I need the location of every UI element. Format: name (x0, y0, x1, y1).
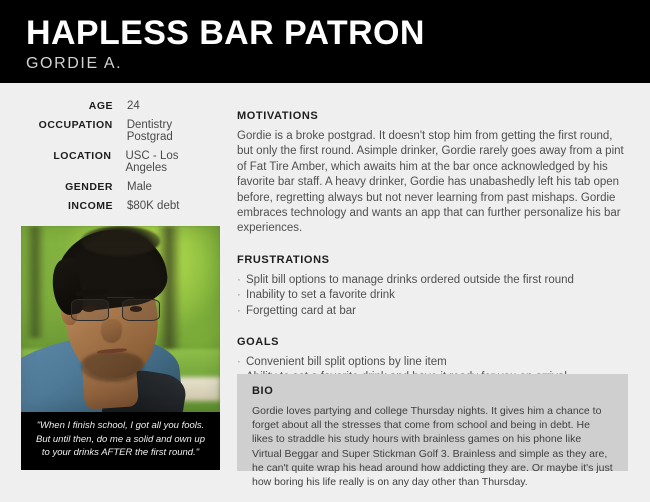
motivations-heading: MOTIVATIONS (237, 110, 628, 122)
demographic-row-age: AGE 24 (21, 100, 221, 112)
spacer (237, 319, 628, 336)
persona-quote: "When I finish school, I got all you foo… (21, 412, 220, 470)
demographic-label-income: INCOME (21, 200, 113, 212)
bio-section: BIO Gordie loves partying and college Th… (237, 374, 628, 471)
goals-heading: GOALS (237, 336, 628, 348)
demographic-row-income: INCOME $80K debt (21, 200, 221, 212)
demographic-row-occupation: OCCUPATION Dentistry Postgrad (21, 119, 221, 143)
motivations-section: MOTIVATIONS Gordie is a broke postgrad. … (237, 110, 628, 237)
demographic-label-occupation: OCCUPATION (21, 119, 113, 131)
demographic-label-age: AGE (21, 100, 113, 112)
demographic-label-location: LOCATION (21, 150, 111, 162)
spacer (237, 237, 628, 254)
persona-photo (21, 226, 220, 412)
demographic-row-location: LOCATION USC - Los Angeles (21, 150, 221, 174)
list-item: Convenient bill split options by line it… (237, 355, 628, 370)
persona-header: HAPLESS BAR PATRON GORDIE A. (0, 0, 650, 83)
persona-photo-block: "When I finish school, I got all you foo… (21, 226, 220, 470)
frustrations-list: Split bill options to manage drinks orde… (237, 273, 628, 319)
frustrations-heading: FRUSTRATIONS (237, 254, 628, 266)
list-item: Split bill options to manage drinks orde… (237, 273, 628, 288)
bio-heading: BIO (252, 385, 613, 397)
list-item: Inability to set a favorite drink (237, 288, 628, 303)
persona-name-subtitle: GORDIE A. (26, 53, 650, 75)
demographic-value-gender: Male (113, 181, 152, 193)
demographic-value-age: 24 (113, 100, 140, 112)
bio-body: Gordie loves partying and college Thursd… (252, 404, 613, 489)
page-title: HAPLESS BAR PATRON (26, 14, 650, 52)
demographic-value-location: USC - Los Angeles (111, 150, 221, 174)
photo-vignette (21, 226, 220, 412)
demographic-label-gender: GENDER (21, 181, 113, 193)
demographic-value-income: $80K debt (113, 200, 179, 212)
persona-card: HAPLESS BAR PATRON GORDIE A. AGE 24 OCCU… (0, 0, 650, 502)
demographic-value-occupation: Dentistry Postgrad (113, 119, 221, 143)
frustrations-section: FRUSTRATIONS Split bill options to manag… (237, 254, 628, 319)
persona-content-column: MOTIVATIONS Gordie is a broke postgrad. … (237, 110, 628, 401)
demographics-list: AGE 24 OCCUPATION Dentistry Postgrad LOC… (21, 100, 221, 219)
demographic-row-gender: GENDER Male (21, 181, 221, 193)
motivations-body: Gordie is a broke postgrad. It doesn't s… (237, 129, 628, 237)
list-item: Forgetting card at bar (237, 304, 628, 319)
